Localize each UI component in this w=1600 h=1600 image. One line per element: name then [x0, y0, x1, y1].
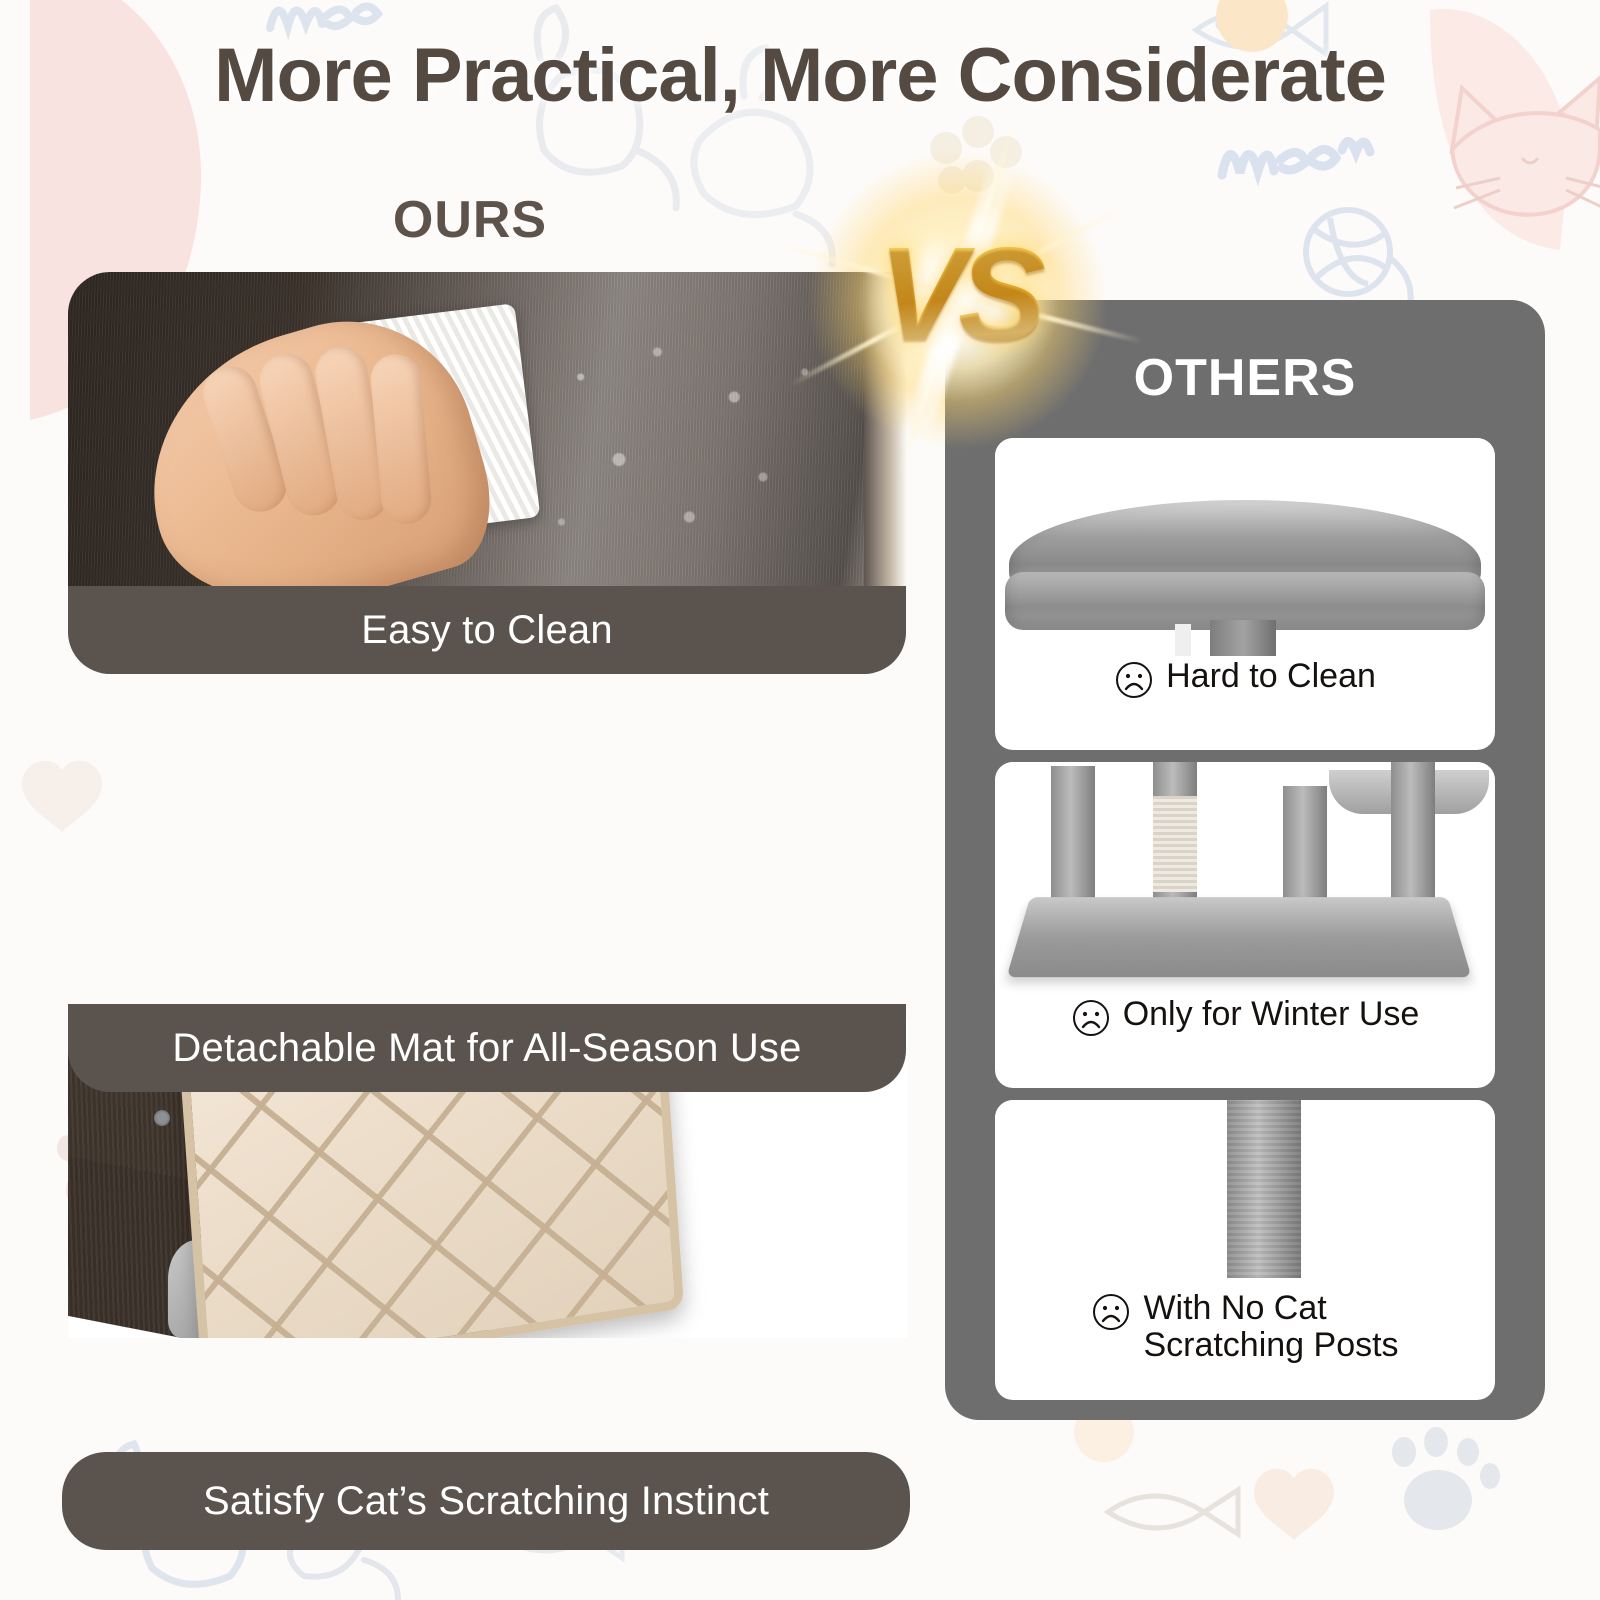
others-caption-line1: Only for Winter Use: [1123, 995, 1420, 1033]
vs-label: VS: [828, 168, 1088, 418]
others-panel: OTHERS Hard to Clean: [945, 300, 1545, 1420]
ours-image-easy-to-clean: [68, 272, 908, 602]
others-card-winter-use: Only for Winter Use: [995, 762, 1495, 1088]
plain-plush-post: [1227, 1100, 1301, 1278]
ours-caption-scratching-instinct: Satisfy Cat’s Scratching Instinct: [62, 1452, 910, 1550]
plush-base-board: [1007, 897, 1472, 977]
ours-caption-easy-to-clean: Easy to Clean: [68, 586, 906, 674]
sad-face-icon: [1091, 1292, 1131, 1332]
others-image-winter-use: [995, 762, 1495, 994]
others-image-no-scratching-posts: [995, 1100, 1495, 1288]
others-card-hard-to-clean: Hard to Clean: [995, 438, 1495, 750]
hanging-rope: [1175, 624, 1191, 656]
infographic-canvas: More Practical, More Considerate OURS Ea…: [0, 0, 1600, 1600]
sad-face-icon: [1114, 660, 1154, 700]
others-caption-line2: Scratching Posts: [1143, 1326, 1398, 1364]
others-image-hard-to-clean: [995, 438, 1495, 656]
sisal-wrap: [1153, 796, 1197, 892]
ours-column-label: OURS: [230, 190, 710, 250]
others-caption-hard-to-clean: Hard to Clean: [995, 656, 1495, 700]
page-title: More Practical, More Considerate: [0, 32, 1600, 119]
sad-face-icon: [1071, 998, 1111, 1038]
others-caption-no-scratching-posts: With No Cat Scratching Posts: [995, 1288, 1495, 1363]
ours-caption-detachable-mat: Detachable Mat for All-Season Use: [68, 1004, 906, 1092]
perch-stem: [1210, 620, 1276, 656]
screw: [154, 1110, 170, 1126]
others-card-no-scratching-posts: With No Cat Scratching Posts: [995, 1100, 1495, 1400]
others-caption-winter-use: Only for Winter Use: [995, 994, 1495, 1038]
others-caption-line1: With No Cat: [1143, 1289, 1326, 1327]
vs-badge: VS: [828, 168, 1088, 418]
others-caption-line1: Hard to Clean: [1166, 657, 1376, 695]
